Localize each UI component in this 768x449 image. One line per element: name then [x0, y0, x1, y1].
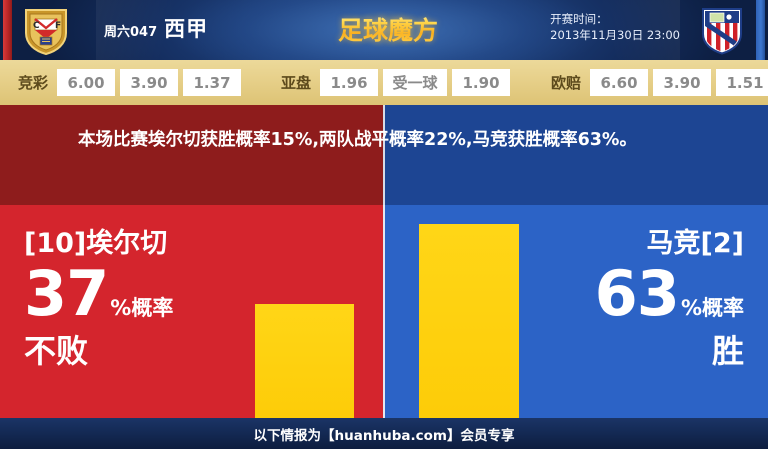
footer-text: 以下情报为【huanhuba.com】会员专享	[254, 424, 515, 444]
odds-group-title: 亚盘	[281, 72, 311, 93]
atletico-madrid-crest	[698, 6, 746, 55]
odds-group-title: 欧赔	[551, 72, 581, 93]
match-label: 周六047 西甲	[104, 13, 208, 43]
svg-text:F: F	[55, 21, 61, 31]
odds-cell-away[interactable]: 1.90	[452, 69, 510, 96]
away-percent-value: 63	[595, 263, 679, 325]
odds-cell-home[interactable]: 6.00	[57, 69, 115, 96]
odds-cell-draw[interactable]: 3.90	[120, 69, 178, 96]
kickoff-time-value: 2013年11月30日 23:00	[550, 27, 680, 43]
home-stats: [10]埃尔切 37 %概率 不败	[24, 227, 173, 371]
away-team-name: 马竞[2]	[595, 227, 744, 261]
odds-group-yapan: 亚盘 1.96 受一球 1.90	[281, 69, 510, 96]
brand-logo-text: 足球魔方	[338, 11, 438, 47]
home-team-name: [10]埃尔切	[24, 227, 173, 261]
brand-logo[interactable]: 足球魔方	[324, 6, 452, 52]
away-probability-bar	[419, 224, 519, 418]
footer-bar: 以下情报为【huanhuba.com】会员专享	[0, 418, 768, 449]
odds-cell-draw[interactable]: 3.90	[653, 69, 711, 96]
home-percent-value: 37	[24, 263, 108, 325]
home-percent-row: 37 %概率	[24, 263, 173, 325]
header-bar: C F	[0, 0, 768, 60]
odds-bar: 竞彩 6.00 3.90 1.37 亚盘 1.96 受一球 1.90 欧赔 6.…	[0, 60, 768, 105]
home-percent-unit: %概率	[110, 298, 173, 319]
odds-cell-handicap[interactable]: 受一球	[383, 69, 447, 96]
header-edge-stripe-red	[3, 0, 12, 60]
odds-cell-home[interactable]: 1.96	[320, 69, 378, 96]
match-round-label: 周六047	[104, 21, 157, 40]
summary-text: 本场比赛埃尔切获胜概率15%,两队战平概率22%,马竞获胜概率63%。	[78, 125, 718, 156]
summary-banner: 本场比赛埃尔切获胜概率15%,两队战平概率22%,马竞获胜概率63%。	[0, 105, 768, 205]
home-probability-bar	[255, 304, 354, 418]
kickoff-time: 开赛时间： 2013年11月30日 23:00	[550, 11, 680, 43]
away-percent-row: 63 %概率	[595, 263, 744, 325]
league-name: 西甲	[164, 13, 208, 43]
odds-cell-away[interactable]: 1.51	[716, 69, 768, 96]
elche-cf-crest: C F	[22, 6, 70, 55]
away-percent-unit: %概率	[681, 298, 744, 319]
panel-divider	[383, 205, 385, 418]
odds-cell-away[interactable]: 1.37	[183, 69, 241, 96]
header-edge-stripe-blue	[756, 0, 765, 60]
away-verdict: 胜	[595, 331, 744, 371]
match-probability-infographic: C F	[0, 0, 768, 449]
probability-chart: [10]埃尔切 37 %概率 不败 马竞[2] 63 %概率 胜	[0, 205, 768, 418]
odds-group-title: 竞彩	[18, 72, 48, 93]
odds-group-jingcai: 竞彩 6.00 3.90 1.37	[18, 69, 241, 96]
svg-text:C: C	[33, 21, 40, 31]
odds-cell-home[interactable]: 6.60	[590, 69, 648, 96]
kickoff-time-label: 开赛时间：	[550, 11, 680, 27]
away-stats: 马竞[2] 63 %概率 胜	[595, 227, 744, 371]
home-verdict: 不败	[24, 331, 173, 371]
odds-group-oupei: 欧赔 6.60 3.90 1.51	[551, 69, 768, 96]
